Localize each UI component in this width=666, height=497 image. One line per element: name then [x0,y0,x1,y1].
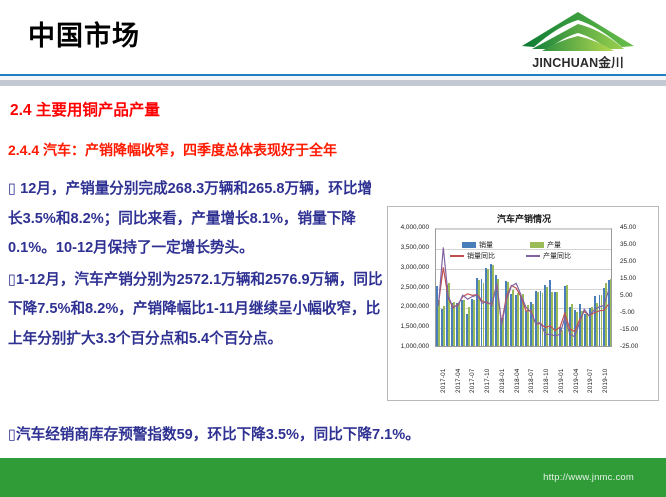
chart-legend: 销量 产量 销量同比 产量同比 [444,240,614,262]
chart-x-tick-label: 2018-07 [528,368,535,393]
legend-row-2: 销量同比 产量同比 [444,251,614,262]
legend-item-production: 产量 [530,240,561,250]
chart-x-tick-label: 2017-07 [469,368,476,393]
chart-x-tick-label: 2017-04 [455,368,462,393]
chart-y-tick-label: 1,000,000 [401,343,429,350]
chart-container: 汽车产销情况 4,000,0003,500,0003,000,0002,500,… [387,206,659,401]
chart-y-axis-left: 4,000,0003,500,0003,000,0002,500,0002,00… [388,228,432,347]
chart-line-series [438,267,608,331]
chart-x-tick-label: 2018-10 [543,368,550,393]
legend-label-production-yoy: 产量同比 [543,251,571,261]
chart-y-tick-label: 2,000,000 [401,303,429,310]
chart-x-tick-label: 2017-01 [440,368,447,393]
chart-x-tick-label: 2019-01 [558,368,565,393]
chart-x-tick-label: 2019-10 [602,368,609,393]
chart-y-tick-label: 1,500,000 [401,323,429,330]
chart-x-tick-label: 2018-04 [514,368,521,393]
chart-y2-tick-label: -25.00 [620,343,638,350]
subsection-heading: 2.4.4 汽车：产销降幅收窄，四季度总体表现好于全年 [8,140,337,160]
legend-swatch-sales [462,242,476,248]
chart-x-axis: 2017-012017-042017-072017-102018-012018-… [435,349,612,395]
chart-y-tick-label: 3,000,000 [401,264,429,271]
legend-label-production: 产量 [547,240,561,250]
chart-x-tick-label: 2018-01 [499,368,506,393]
chart-y2-tick-label: 5.00 [620,292,632,299]
slide-footer: http://www.jnmc.com [0,458,666,497]
legend-row-1: 销量 产量 [444,240,614,251]
legend-item-sales-yoy: 销量同比 [450,251,495,261]
logo-wordmark: JINCHUAN金川 [498,52,658,71]
chart-y2-tick-label: 35.00 [620,241,636,248]
legend-item-sales: 销量 [462,240,493,250]
section-heading: 2.4 主要用铜产品产量 [10,98,160,120]
legend-label-sales-yoy: 销量同比 [467,251,495,261]
chart-y2-tick-label: -5.00 [620,309,635,316]
footer-url: http://www.jnmc.com [543,472,634,483]
legend-item-production-yoy: 产量同比 [526,251,571,261]
body-paragraph-2: ▯1-12月，汽车产销分别为2572.1万辆和2576.9万辆，同比下降7.5%… [8,266,386,355]
chart-y2-tick-label: -15.00 [620,326,638,333]
jinchuan-logo: JINCHUAN金川 [498,6,658,72]
chart-y-tick-label: 3,500,000 [401,244,429,251]
chart-y2-tick-label: 45.00 [620,224,636,231]
chart-y-tick-label: 4,000,000 [401,224,429,231]
page-title: 中国市场 [28,18,140,54]
header-divider-gray [0,80,666,86]
chart-y2-tick-label: 15.00 [620,275,636,282]
chart-x-tick-label: 2019-04 [573,368,580,393]
legend-swatch-production-yoy [526,255,540,257]
chart-y2-tick-label: 25.00 [620,258,636,265]
body-text-column: ▯ 12月，产销量分别完成268.3万辆和265.8万辆，环比增长3.5%和8.… [8,175,386,356]
chart-x-tick-label: 2017-10 [484,368,491,393]
chart-y-axis-right: 45.0035.0025.0015.005.00-5.00-15.00-25.0… [614,228,658,347]
legend-swatch-sales-yoy [450,255,464,257]
chart-y-tick-label: 2,500,000 [401,284,429,291]
legend-label-sales: 销量 [479,240,493,250]
body-paragraph-3: ▯汽车经销商库存预警指数59，环比下降3.5%，同比下降7.1%。 [8,424,658,446]
mountain-logo-icon [498,6,658,56]
slide-header: 中国市场 JINCHUAN金川 [0,0,666,74]
legend-swatch-production [530,242,544,248]
chart-x-tick-label: 2019-07 [587,368,594,393]
body-paragraph-1: ▯ 12月，产销量分别完成268.3万辆和265.8万辆，环比增长3.5%和8.… [8,175,386,264]
